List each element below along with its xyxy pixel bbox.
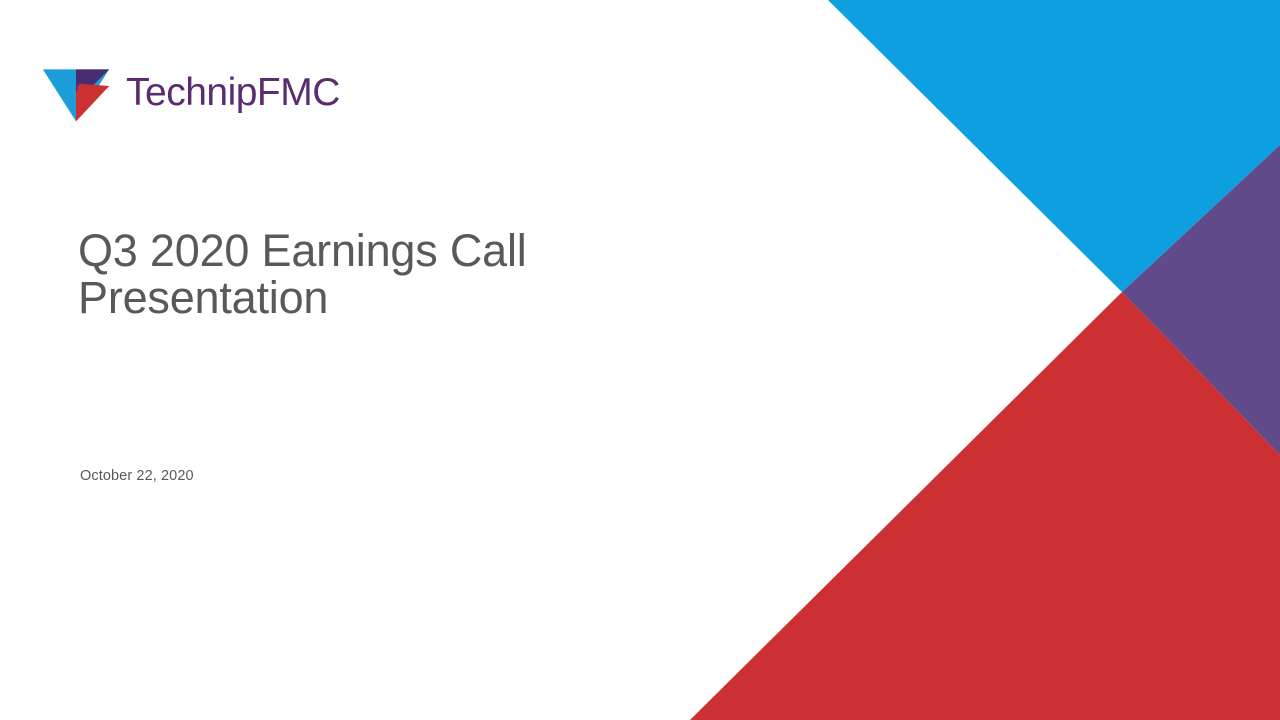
brand-logo: TechnipFMC — [40, 55, 340, 127]
logo-wordmark: TechnipFMC — [126, 73, 340, 112]
logo-red-chevron-body — [76, 84, 109, 121]
technipfmc-logo-mark-icon — [40, 55, 112, 127]
purple-wedge-shape — [1122, 145, 1280, 455]
page-title: Q3 2020 Earnings Call Presentation — [78, 228, 698, 322]
red-triangle-shape — [690, 292, 1280, 720]
title-block: Q3 2020 Earnings Call Presentation — [78, 228, 698, 322]
presentation-date: October 22, 2020 — [80, 468, 194, 484]
blue-triangle-shape — [828, 0, 1280, 292]
title-slide: TechnipFMC Q3 2020 Earnings Call Present… — [0, 0, 1280, 720]
